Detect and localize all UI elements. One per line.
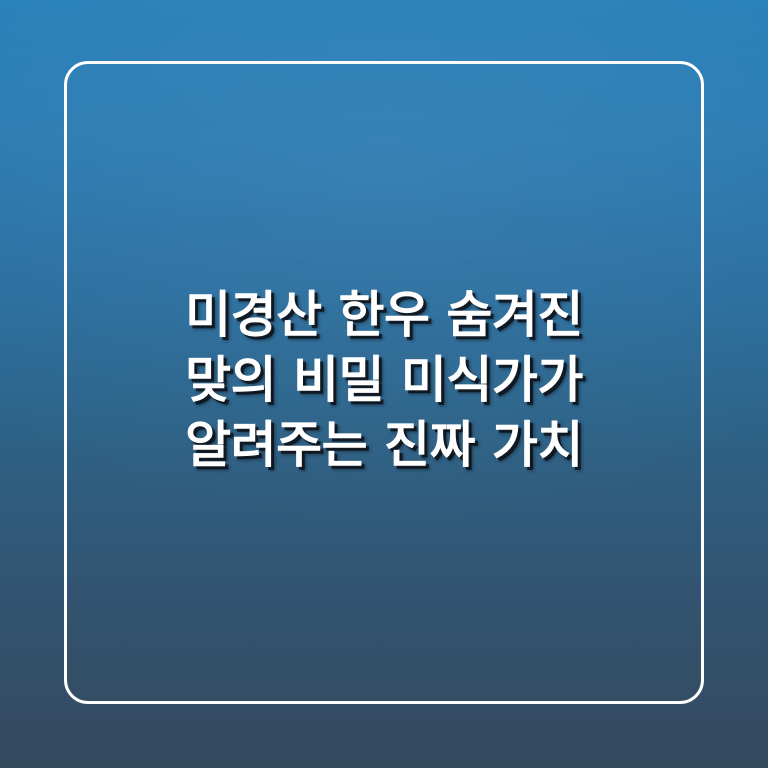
headline-line-2: 맞의 비밀 미식가가	[86, 348, 682, 413]
headline-line-3: 알려주는 진짜 가치	[86, 413, 682, 478]
headline-line-1: 미경산 한우 숨겨진	[86, 283, 682, 348]
banner-canvas: 미경산 한우 숨겨진 맞의 비밀 미식가가 알려주는 진짜 가치	[0, 0, 768, 768]
headline-block: 미경산 한우 숨겨진 맞의 비밀 미식가가 알려주는 진짜 가치	[0, 283, 768, 478]
